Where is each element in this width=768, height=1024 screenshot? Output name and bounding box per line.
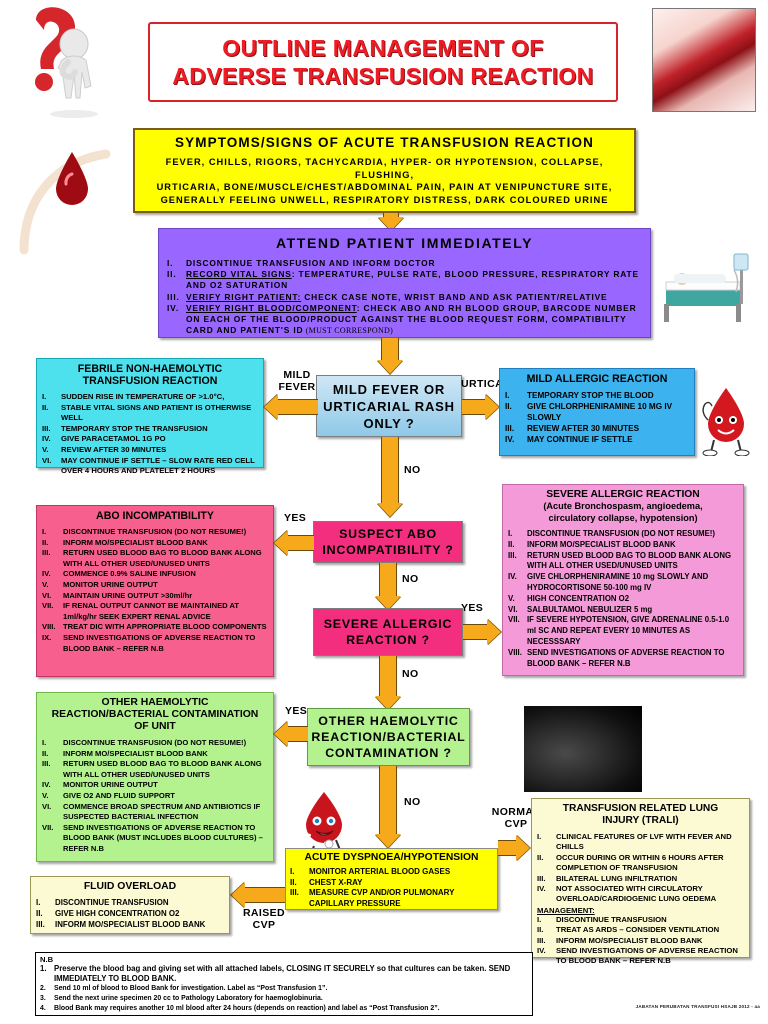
trali-management-label: MANAGEMENT: — [537, 906, 744, 915]
title-line-1: OUTLINE MANAGEMENT OF — [222, 34, 543, 62]
q-mild-line-1: MILD FEVER OR — [333, 381, 445, 398]
abo-panel-title: ABO INCOMPATIBILITY — [42, 510, 268, 522]
title-line-2: ADVERSE TRANSFUSION REACTION — [172, 62, 593, 90]
list-item-text: IF RENAL OUTPUT CANNOT BE MAINTAINED AT … — [63, 601, 268, 622]
list-item-number: III. — [537, 874, 556, 884]
list-item-number: VI. — [508, 605, 527, 616]
label-no-1: NO — [404, 464, 421, 476]
list-item: III.RETURN USED BLOOD BAG TO BLOOD BANK … — [508, 551, 738, 573]
list-item-number: II. — [36, 908, 55, 919]
symptoms-title: SYMPTOMS/SIGNS OF ACUTE TRANSFUSION REAC… — [141, 135, 628, 150]
list-item: I.SUDDEN RISE IN TEMPERATURE OF >1.0°C, — [42, 392, 258, 403]
label-mild-fever: MILDFEVER — [274, 369, 320, 393]
list-item-text: TREAT AS ARDS – CONSIDER VENTILATION — [556, 925, 744, 935]
list-item-number: VI. — [42, 802, 63, 813]
footnote-text: Blood Bank may requires another 10 ml bl… — [54, 1004, 528, 1014]
label-no-3: NO — [402, 668, 419, 680]
febrile-list: I.SUDDEN RISE IN TEMPERATURE OF >1.0°C,I… — [42, 392, 258, 477]
list-item: V.MONITOR URINE OUTPUT — [42, 580, 268, 591]
other-title-line-3: OF UNIT — [42, 721, 268, 733]
list-item-number: III. — [167, 292, 186, 303]
page-title: OUTLINE MANAGEMENT OF ADVERSE TRANSFUSIO… — [148, 22, 618, 102]
list-item: III.INFORM MO/SPECIALIST BLOOD BANK — [537, 936, 744, 946]
decision-suspect-abo[interactable]: SUSPECT ABO INCOMPATIBILITY ? — [313, 521, 463, 563]
list-item-text: INFORM MO/SPECIALIST BLOOD BANK — [556, 936, 744, 946]
arrow-shaft-normal-cvp — [498, 840, 516, 856]
list-item: IV.MONITOR URINE OUTPUT — [42, 780, 268, 791]
febrile-title-line-2: TRANSFUSION REACTION — [42, 375, 258, 387]
acute-box-title: ACUTE DYSPNOEA/HYPOTENSION — [290, 852, 493, 863]
list-item-text: DISCONTINUE TRANSFUSION — [556, 915, 744, 925]
list-item: IX.SEND INVESTIGATIONS OF ADVERSE REACTI… — [42, 633, 268, 654]
label-yes-severe: YES — [461, 602, 483, 614]
arrow-head-raised-cvp — [231, 882, 245, 908]
list-item-number: IV. — [42, 434, 61, 445]
footnote-item: 1.Preserve the blood bag and giving set … — [40, 964, 528, 984]
attend-title: ATTEND PATIENT IMMEDIATELY — [167, 235, 642, 251]
list-item-number: VII. — [508, 615, 527, 626]
footnote-text: Preserve the blood bag and giving set wi… — [54, 964, 528, 984]
list-item-number: II. — [537, 853, 556, 863]
q-severe-line-2: REACTION ? — [346, 632, 430, 648]
list-item: I.MONITOR ARTERIAL BLOOD GASES — [290, 867, 493, 878]
list-item-text: RECORD VITAL SIGNS: TEMPERATURE, PULSE R… — [186, 269, 642, 291]
chest-xray-photo — [524, 706, 642, 792]
list-item: IV.NOT ASSOCIATED WITH CIRCULATORY OVERL… — [537, 884, 744, 905]
list-item-text: HIGH CONCENTRATION O2 — [527, 594, 738, 605]
list-item: III.VERIFY RIGHT PATIENT: CHECK CASE NOT… — [167, 292, 642, 303]
list-item: II.OCCUR DURING OR WITHIN 6 HOURS AFTER … — [537, 853, 744, 874]
list-item: II.INFORM MO/SPECIALIST BLOOD BANK — [42, 749, 268, 760]
question-mark-person-icon — [8, 6, 148, 118]
blood-drop-mascot-icon — [700, 386, 752, 456]
q-abo-line-1: SUSPECT ABO — [339, 526, 437, 542]
list-item-text: TEMPORARY STOP THE BLOOD — [527, 390, 689, 401]
decision-other-haemolytic[interactable]: OTHER HAEMOLYTIC REACTION/BACTERIAL CONT… — [307, 708, 470, 766]
trali-panel: TRANSFUSION RELATED LUNG INJURY (TRALI) … — [531, 798, 750, 958]
list-item-number: V. — [508, 594, 527, 605]
q-abo-line-2: INCOMPATIBILITY ? — [322, 542, 453, 558]
list-item-number: II. — [42, 403, 61, 414]
list-item-text: BILATERAL LUNG INFILTRATION — [556, 874, 744, 884]
decision-severe-allergic[interactable]: SEVERE ALLERGIC REACTION ? — [313, 608, 463, 656]
abo-list: I.DISCONTINUE TRANSFUSION (DO NOT RESUME… — [42, 527, 268, 654]
swirl-decoration-icon — [14, 140, 134, 260]
list-item-number: III. — [505, 423, 527, 434]
list-item: VII.IF SEVERE HYPOTENSION, GIVE ADRENALI… — [508, 615, 738, 647]
fluid-panel-title: FLUID OVERLOAD — [36, 881, 224, 893]
list-item: II.CHEST X-RAY — [290, 878, 493, 889]
list-item-text: MONITOR ARTERIAL BLOOD GASES — [309, 867, 493, 878]
arrow-head-urticaria — [485, 394, 499, 420]
list-item-text: MONITOR URINE OUTPUT — [63, 580, 268, 591]
footnote-item: 2.Send 10 ml of blood to Blood Bank for … — [40, 984, 528, 994]
severe-subtitle-1: (Acute Bronchospasm, angioedema, — [508, 501, 738, 513]
list-item: I.DISCONTINUE TRANSFUSION AND INFORM DOC… — [167, 258, 642, 269]
list-item-text: TREAT DIC WITH APPROPRIATE BLOOD COMPONE… — [63, 622, 268, 633]
list-item-number: IX. — [42, 633, 63, 644]
list-item: IV.GIVE PARACETAMOL 1G PO — [42, 434, 258, 445]
list-item-text: INFORM MO/SPECIALIST BLOOD BANK — [55, 919, 224, 930]
footnote-heading: N.B — [40, 955, 528, 964]
list-item-text: DISCONTINUE TRANSFUSION AND INFORM DOCTO… — [186, 258, 642, 269]
arrow-shaft-yes-other — [288, 726, 308, 742]
list-item-number: IV. — [167, 303, 186, 314]
footnote-item: 3.Send the next urine specimen 20 cc to … — [40, 994, 528, 1004]
list-item-text: GIVE PARACETAMOL 1G PO — [61, 434, 258, 445]
list-item: II.STABLE VITAL SIGNS AND PATIENT IS OTH… — [42, 403, 258, 424]
list-item-text: REVIEW AFTER 30 MINUTES — [527, 423, 689, 434]
symptoms-line-1: FEVER, CHILLS, RIGORS, TACHYCARDIA, HYPE… — [141, 156, 628, 181]
list-item-number: II. — [537, 925, 556, 935]
fluid-overload-panel: FLUID OVERLOAD I.DISCONTINUE TRANSFUSION… — [30, 876, 230, 934]
list-item-number: IV. — [537, 884, 556, 894]
list-item-text: TEMPORARY STOP THE TRANSFUSION — [61, 424, 258, 435]
list-item-text: INFORM MO/SPECIALIST BLOOD BANK — [63, 749, 268, 760]
blood-bag-photo — [652, 8, 756, 112]
list-item-text: DISCONTINUE TRANSFUSION — [55, 897, 224, 908]
footnote-number: 4. — [40, 1004, 54, 1014]
acute-list: I.MONITOR ARTERIAL BLOOD GASESII.CHEST X… — [290, 867, 493, 909]
label-no-4: NO — [404, 796, 421, 808]
arrow-head-normal-cvp — [516, 835, 530, 861]
list-item-number: I. — [505, 390, 527, 401]
list-item-number: I. — [36, 897, 55, 908]
symptoms-box: SYMPTOMS/SIGNS OF ACUTE TRANSFUSION REAC… — [133, 128, 636, 213]
list-item: II.TREAT AS ARDS – CONSIDER VENTILATION — [537, 925, 744, 935]
list-item-text: GIVE O2 AND FLUID SUPPORT — [63, 791, 268, 802]
blood-drop-doctor-mascot-icon — [296, 790, 358, 856]
list-item-text: MAINTAIN URINE OUTPUT >30ml/hr — [63, 591, 268, 602]
list-item: II.INFORM MO/SPECIALIST BLOOD BANK — [508, 540, 738, 551]
list-item-text: IF SEVERE HYPOTENSION, GIVE ADRENALINE 0… — [527, 615, 738, 647]
list-item-number: V. — [42, 580, 63, 591]
footnote-number: 3. — [40, 994, 54, 1004]
list-item: II.RECORD VITAL SIGNS: TEMPERATURE, PULS… — [167, 269, 642, 291]
list-item-text: OCCUR DURING OR WITHIN 6 HOURS AFTER COM… — [556, 853, 744, 874]
arrow-shaft-yes-abo — [288, 535, 314, 551]
list-item-text: SEND INVESTIGATIONS OF ADVERSE REACTION … — [63, 823, 268, 855]
list-item-number: II. — [42, 538, 63, 549]
list-item: V.HIGH CONCENTRATION O2 — [508, 594, 738, 605]
list-item-number: I. — [167, 258, 186, 269]
list-item-number: III. — [537, 936, 556, 946]
list-item-text: DISCONTINUE TRANSFUSION (DO NOT RESUME!) — [63, 527, 268, 538]
footnote-text: Send 10 ml of blood to Blood Bank for in… — [54, 984, 528, 994]
list-item-text: SALBULTAMOL NEBULIZER 5 mg — [527, 605, 738, 616]
list-item-number: IV. — [508, 572, 527, 583]
list-item-number: I. — [537, 915, 556, 925]
list-item-number: IV. — [42, 569, 63, 580]
label-yes-abo: YES — [284, 512, 306, 524]
footnote-text: Send the next urine specimen 20 cc to Pa… — [54, 994, 528, 1004]
arrow-shaft-no-1 — [381, 437, 399, 505]
trali-title-line-1: TRANSFUSION RELATED LUNG — [537, 803, 744, 815]
list-item-number: V. — [42, 445, 61, 456]
list-item-text: INFORM MO/SPECIALIST BLOOD BANK — [527, 540, 738, 551]
list-item-text: MEASURE CVP AND/OR PULMONARY CAPILLARY P… — [309, 888, 493, 909]
febrile-title-line-1: FEBRILE NON-HAEMOLYTIC — [42, 363, 258, 375]
arrow-shaft-no-3 — [379, 656, 397, 700]
list-item-text: VERIFY RIGHT PATIENT: CHECK CASE NOTE, W… — [186, 292, 642, 303]
list-item-text: STABLE VITAL SIGNS AND PATIENT IS OTHERW… — [61, 403, 258, 424]
trali-list: I.CLINICAL FEATURES OF LVF WITH FEVER AN… — [537, 832, 744, 905]
list-item: I.TEMPORARY STOP THE BLOOD — [505, 390, 689, 401]
q-severe-line-1: SEVERE ALLERGIC — [324, 616, 453, 632]
list-item-text: MAY CONTINUE IF SETTLE — [527, 434, 689, 445]
list-item-number: II. — [167, 269, 186, 280]
list-item: VIII.TREAT DIC WITH APPROPRIATE BLOOD CO… — [42, 622, 268, 633]
other-haemolytic-panel: OTHER HAEMOLYTIC REACTION/BACTERIAL CONT… — [36, 692, 274, 862]
list-item-number: I. — [42, 392, 61, 403]
list-item-number: I. — [290, 867, 309, 878]
fluid-list: I.DISCONTINUE TRANSFUSIONII.GIVE HIGH CO… — [36, 897, 224, 930]
arrow-shaft-attend-mild — [381, 338, 399, 362]
list-item-number: VI. — [42, 591, 63, 602]
list-item-number: VIII. — [42, 622, 63, 633]
list-item-number: III. — [508, 551, 527, 562]
list-item-text: MONITOR URINE OUTPUT — [63, 780, 268, 791]
list-item-number: III. — [290, 888, 309, 899]
list-item-text: SEND INVESTIGATIONS OF ADVERSE REACTION … — [63, 633, 268, 654]
list-item: IV.COMMENCE 0.9% SALINE INFUSION — [42, 569, 268, 580]
trali-management-list: I.DISCONTINUE TRANSFUSIONII.TREAT AS ARD… — [537, 915, 744, 967]
list-item: III.REVIEW AFTER 30 MINUTES — [505, 423, 689, 434]
list-item-text: CHEST X-RAY — [309, 878, 493, 889]
list-item: I.DISCONTINUE TRANSFUSION — [36, 897, 224, 908]
list-item-number: IV. — [42, 780, 63, 791]
list-item-text: RETURN USED BLOOD BAG TO BLOOD BANK ALON… — [63, 759, 268, 780]
list-item-text: GIVE CHLORPHENIRAMINE 10 mg SLOWLY AND H… — [527, 572, 738, 594]
list-item: II.GIVE CHLORPHENIRAMINE 10 MG IV SLOWLY — [505, 401, 689, 423]
list-item: VI.MAINTAIN URINE OUTPUT >30ml/hr — [42, 591, 268, 602]
severe-list: I.DISCONTINUE TRANSFUSION (DO NOT RESUME… — [508, 529, 738, 669]
list-item: IV.SEND INVESTIGATIONS OF ADVERSE REACTI… — [537, 946, 744, 967]
list-item: II.GIVE HIGH CONCENTRATION O2 — [36, 908, 224, 919]
arrow-head-no-4 — [375, 834, 401, 848]
list-item-number: I. — [537, 832, 556, 842]
list-item-text: DISCONTINUE TRANSFUSION (DO NOT RESUME!) — [527, 529, 738, 540]
arrow-shaft-no-4 — [379, 766, 397, 838]
list-item: I.DISCONTINUE TRANSFUSION — [537, 915, 744, 925]
label-raised-cvp: RAISEDCVP — [236, 907, 292, 931]
list-item-number: III. — [36, 919, 55, 930]
arrow-shaft-yes-severe — [463, 624, 487, 640]
list-item: V.GIVE O2 AND FLUID SUPPORT — [42, 791, 268, 802]
list-item: III.TEMPORARY STOP THE TRANSFUSION — [42, 424, 258, 435]
list-item: IV.VERIFY RIGHT BLOOD/COMPONENT: CHECK A… — [167, 303, 642, 337]
list-item: IV.GIVE CHLORPHENIRAMINE 10 mg SLOWLY AN… — [508, 572, 738, 594]
list-item-text: CLINICAL FEATURES OF LVF WITH FEVER AND … — [556, 832, 744, 853]
label-yes-other: YES — [285, 705, 307, 717]
severe-panel-title: SEVERE ALLERGIC REACTION — [508, 489, 738, 501]
trali-title-line-2: INJURY (TRALI) — [537, 815, 744, 827]
list-item-number: VII. — [42, 601, 63, 612]
other-title-line-1: OTHER HAEMOLYTIC — [42, 697, 268, 709]
header-band: OUTLINE MANAGEMENT OF ADVERSE TRANSFUSIO… — [0, 0, 768, 122]
arrow-head-yes-severe — [487, 619, 501, 645]
list-item-number: VI. — [42, 456, 61, 467]
list-item-number: IV. — [537, 946, 556, 956]
list-item-text: COMMENCE 0.9% SALINE INFUSION — [63, 569, 268, 580]
blood-drop-icon — [52, 150, 92, 208]
list-item-text: RETURN USED BLOOD BAG TO BLOOD BANK ALON… — [63, 548, 268, 569]
other-list: I.DISCONTINUE TRANSFUSION (DO NOT RESUME… — [42, 738, 268, 855]
list-item: III.RETURN USED BLOOD BAG TO BLOOD BANK … — [42, 759, 268, 780]
arrow-head-attend-mild — [377, 360, 403, 374]
list-item: VI.SALBULTAMOL NEBULIZER 5 mg — [508, 605, 738, 616]
patient-bed-icon — [660, 248, 752, 326]
list-item: I.DISCONTINUE TRANSFUSION (DO NOT RESUME… — [42, 738, 268, 749]
list-item-text: SEND INVESTIGATIONS OF ADVERSE REACTION … — [556, 946, 744, 967]
symptoms-line-2: URTICARIA, BONE/MUSCLE/CHEST/ABDOMINAL P… — [141, 181, 628, 194]
q-other-line-2: REACTION/BACTERIAL — [311, 729, 465, 745]
list-item-text: VERIFY RIGHT BLOOD/COMPONENT: CHECK ABO … — [186, 303, 642, 337]
febrile-reaction-panel: FEBRILE NON-HAEMOLYTIC TRANSFUSION REACT… — [36, 358, 264, 468]
list-item-number: III. — [42, 424, 61, 435]
arrow-shaft-no-2 — [379, 563, 397, 599]
list-item: VI.COMMENCE BROAD SPECTRUM AND ANTIBIOTI… — [42, 802, 268, 823]
arrow-head-mild-fever — [264, 394, 278, 420]
list-item-number: III. — [42, 548, 63, 559]
list-item: I.CLINICAL FEATURES OF LVF WITH FEVER AN… — [537, 832, 744, 853]
list-item: III.RETURN USED BLOOD BAG TO BLOOD BANK … — [42, 548, 268, 569]
footnote-item: 4.Blood Bank may requires another 10 ml … — [40, 1004, 528, 1014]
q-other-line-3: CONTAMINATION ? — [325, 745, 451, 761]
list-item-text: REVIEW AFTER 30 MINUTES — [61, 445, 258, 456]
list-item-text: MAY CONTINUE IF SETTLE – SLOW RATE RED C… — [61, 456, 258, 477]
mild-allergic-panel: MILD ALLERGIC REACTION I.TEMPORARY STOP … — [499, 368, 695, 456]
list-item-text: GIVE CHLORPHENIRAMINE 10 MG IV SLOWLY — [527, 401, 689, 423]
other-title-line-2: REACTION/BACTERIAL CONTAMINATION — [42, 709, 268, 721]
list-item-text: RETURN USED BLOOD BAG TO BLOOD BANK ALON… — [527, 551, 738, 573]
list-item-number: I. — [42, 738, 63, 749]
footnote-list: 1.Preserve the blood bag and giving set … — [40, 964, 528, 1014]
attend-list: I.DISCONTINUE TRANSFUSION AND INFORM DOC… — [167, 258, 642, 336]
list-item: VI.MAY CONTINUE IF SETTLE – SLOW RATE RE… — [42, 456, 258, 477]
list-item-text: SEND INVESTIGATIONS OF ADVERSE REACTION … — [527, 648, 738, 670]
list-item-number: VII. — [42, 823, 63, 834]
list-item-number: II. — [508, 540, 527, 551]
list-item: IV.MAY CONTINUE IF SETTLE — [505, 434, 689, 445]
attend-patient-box: ATTEND PATIENT IMMEDIATELY I.DISCONTINUE… — [158, 228, 651, 338]
list-item-text: GIVE HIGH CONCENTRATION O2 — [55, 908, 224, 919]
decision-mild-fever[interactable]: MILD FEVER OR URTICARIAL RASH ONLY ? — [316, 375, 462, 437]
list-item: III.INFORM MO/SPECIALIST BLOOD BANK — [36, 919, 224, 930]
footnote-number: 2. — [40, 984, 54, 994]
list-item: I.DISCONTINUE TRANSFUSION (DO NOT RESUME… — [508, 529, 738, 540]
credit-line: JABATAN PERUBATAN TRANSFUSI HSAJB 2012 -… — [600, 1004, 760, 1009]
list-item-number: III. — [42, 759, 63, 770]
list-item: I.DISCONTINUE TRANSFUSION (DO NOT RESUME… — [42, 527, 268, 538]
symptoms-line-3: GENERALLY FEELING UNWELL, RESPIRATORY DI… — [141, 194, 628, 207]
list-item: VII.SEND INVESTIGATIONS OF ADVERSE REACT… — [42, 823, 268, 855]
list-item-text: DISCONTINUE TRANSFUSION (DO NOT RESUME!) — [63, 738, 268, 749]
arrow-shaft-urticaria — [462, 399, 485, 415]
arrow-head-yes-other — [274, 721, 288, 747]
list-item-text: COMMENCE BROAD SPECTRUM AND ANTIBIOTICS … — [63, 802, 268, 823]
footnote-number: 1. — [40, 964, 54, 984]
list-item-number: II. — [42, 749, 63, 760]
arrow-shaft-mild-fever — [278, 399, 318, 415]
list-item: III.BILATERAL LUNG INFILTRATION — [537, 874, 744, 884]
list-item: III.MEASURE CVP AND/OR PULMONARY CAPILLA… — [290, 888, 493, 909]
list-item-number: V. — [42, 791, 63, 802]
list-item: V.REVIEW AFTER 30 MINUTES — [42, 445, 258, 456]
q-mild-line-2: URTICARIAL RASH — [323, 398, 455, 415]
q-mild-line-3: ONLY ? — [363, 415, 414, 432]
list-item-number: I. — [42, 527, 63, 538]
acute-dyspnoea-box: ACUTE DYSPNOEA/HYPOTENSION I.MONITOR ART… — [285, 848, 498, 910]
list-item-number: II. — [290, 878, 309, 889]
footnote-box: N.B 1.Preserve the blood bag and giving … — [35, 952, 533, 1016]
list-item: II.INFORM MO/SPECIALIST BLOOD BANK — [42, 538, 268, 549]
abo-incompatibility-panel: ABO INCOMPATIBILITY I.DISCONTINUE TRANSF… — [36, 505, 274, 677]
list-item-number: VIII. — [508, 648, 527, 659]
mild-allergic-list: I.TEMPORARY STOP THE BLOODII.GIVE CHLORP… — [505, 390, 689, 445]
list-item-text: SUDDEN RISE IN TEMPERATURE OF >1.0°C, — [61, 392, 258, 403]
mild-allergic-title: MILD ALLERGIC REACTION — [505, 373, 689, 385]
arrow-head-yes-abo — [274, 530, 288, 556]
q-other-line-1: OTHER HAEMOLYTIC — [318, 713, 458, 729]
severe-subtitle-2: circulatory collapse, hypotension) — [508, 513, 738, 525]
list-item: VIII.SEND INVESTIGATIONS OF ADVERSE REAC… — [508, 648, 738, 670]
arrow-head-no-1 — [377, 503, 403, 517]
list-item-number: II. — [505, 401, 527, 412]
severe-allergic-panel: SEVERE ALLERGIC REACTION (Acute Bronchos… — [502, 484, 744, 676]
label-no-2: NO — [402, 573, 419, 585]
list-item: VII.IF RENAL OUTPUT CANNOT BE MAINTAINED… — [42, 601, 268, 622]
list-item-number: IV. — [505, 434, 527, 445]
list-item-text: INFORM MO/SPECIALIST BLOOD BANK — [63, 538, 268, 549]
list-item-text: NOT ASSOCIATED WITH CIRCULATORY OVERLOAD… — [556, 884, 744, 905]
list-item-number: I. — [508, 529, 527, 540]
arrow-shaft-raised-cvp — [245, 887, 285, 903]
